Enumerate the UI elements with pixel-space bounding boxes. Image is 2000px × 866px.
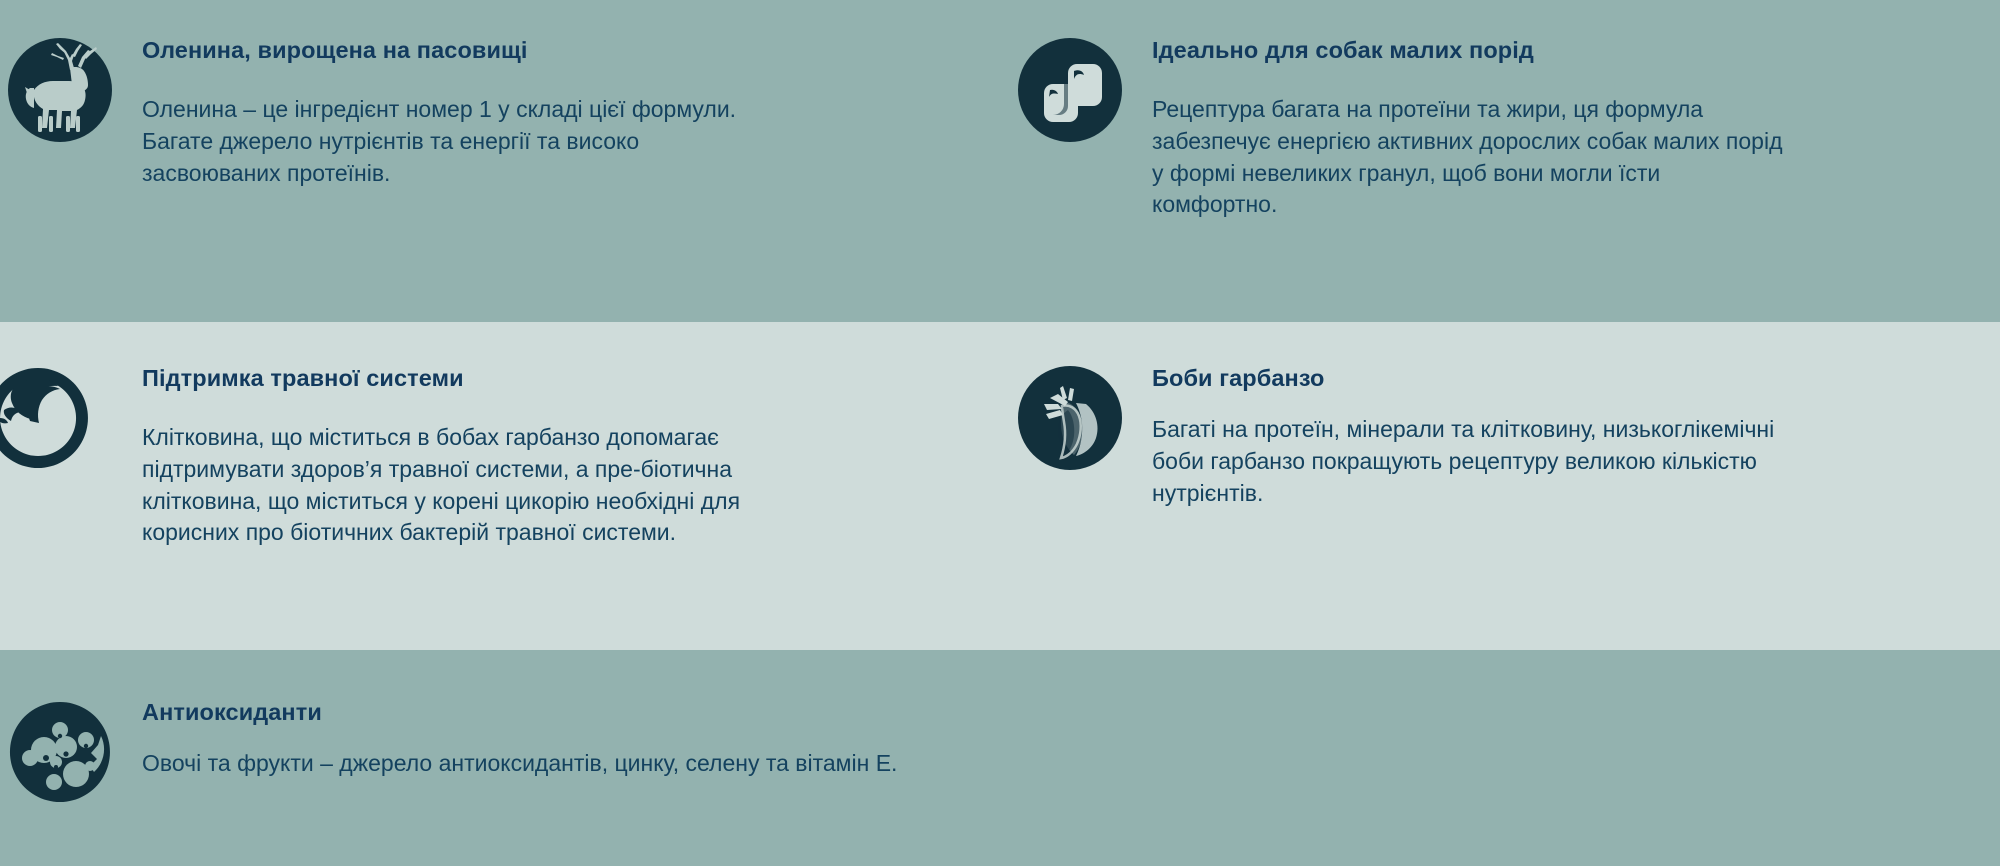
feature-title: Антиоксиданти (142, 698, 960, 726)
chickpea-icon (1010, 358, 1130, 478)
benefits-page: Оленина, вирощена на пасовищі Оленина – … (0, 0, 2000, 866)
feature-card-digestive: Підтримка травної системи Клітковина, що… (0, 358, 960, 549)
benefits-band-2: Підтримка травної системи Клітковина, що… (0, 322, 2000, 650)
feature-card-small-breed: Ідеально для собак малих порід Рецептура… (1010, 30, 1980, 221)
feature-body: Клітковина, що міститься в бобах гарбанз… (142, 422, 942, 549)
benefits-band-1: Оленина, вирощена на пасовищі Оленина – … (0, 0, 2000, 322)
feature-card-venison: Оленина, вирощена на пасовищі Оленина – … (0, 30, 960, 189)
feature-card-garbanzo: Боби гарбанзо Багаті на протеїн, мінерал… (1010, 358, 1980, 509)
feature-title: Підтримка травної системи (142, 364, 960, 392)
feature-body: Оленина – це інгредієнт номер 1 у складі… (142, 94, 902, 189)
feature-title: Ідеально для собак малих порід (1152, 36, 1980, 64)
benefits-band-3: Антиоксиданти Овочі та фрукти – джерело … (0, 650, 2000, 866)
feature-title: Оленина, вирощена на пасовищі (142, 36, 960, 64)
feature-text: Ідеально для собак малих порід Рецептура… (1152, 30, 1980, 221)
stomach-icon (0, 358, 98, 478)
feature-body: Багаті на протеїн, мінерали та клітковин… (1152, 414, 1952, 509)
feature-text: Оленина, вирощена на пасовищі Оленина – … (142, 30, 960, 189)
feature-text: Антиоксиданти Овочі та фрукти – джерело … (142, 692, 960, 780)
antioxidant-icon (0, 692, 120, 812)
feature-text: Підтримка травної системи Клітковина, що… (142, 358, 960, 549)
kibble-icon (1010, 30, 1130, 150)
feature-body: Рецептура багата на протеїни та жири, ця… (1152, 94, 1952, 221)
deer-icon (0, 30, 120, 150)
feature-body: Овочі та фрукти – джерело антиоксидантів… (142, 748, 960, 780)
feature-title: Боби гарбанзо (1152, 364, 1980, 392)
feature-text: Боби гарбанзо Багаті на протеїн, мінерал… (1152, 358, 1980, 509)
feature-card-antioxidants: Антиоксиданти Овочі та фрукти – джерело … (0, 692, 960, 812)
